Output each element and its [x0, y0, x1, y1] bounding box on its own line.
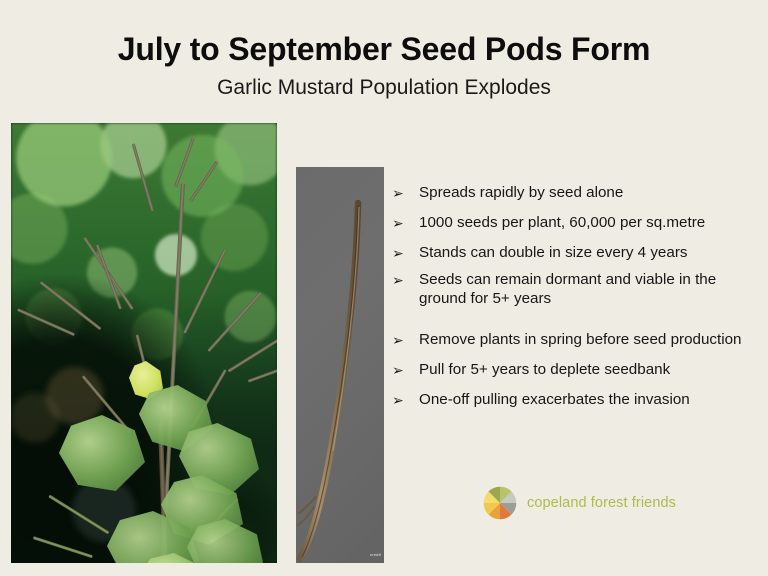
arrow-bullet-icon: ➢ — [392, 331, 408, 350]
bullet-item-3: ➢ Stands can double in size every 4 year… — [392, 243, 760, 262]
arrow-bullet-icon: ➢ — [392, 184, 408, 203]
title-block: July to September Seed Pods Form Garlic … — [0, 32, 768, 99]
bullet-text: Spreads rapidly by seed alone — [419, 184, 623, 201]
seed-pod-closeup-photo: credit — [296, 167, 384, 563]
bullet-text: Remove plants in spring before seed prod… — [419, 331, 742, 348]
page-subtitle: Garlic Mustard Population Explodes — [0, 76, 768, 99]
garlic-mustard-plant-photo — [11, 123, 277, 563]
page-title: July to September Seed Pods Form — [0, 32, 768, 67]
bullet-text: 1000 seeds per plant, 60,000 per sq.metr… — [419, 214, 705, 231]
bullet-item-7: ➢ One-off pulling exacerbates the invasi… — [392, 390, 760, 409]
bullet-list: ➢ Spreads rapidly by seed alone ➢ 1000 s… — [392, 183, 760, 409]
bullet-item-5: ➢ Remove plants in spring before seed pr… — [392, 330, 760, 349]
bullet-text: Pull for 5+ years to deplete seedbank — [419, 361, 670, 378]
photo-credit: credit — [370, 552, 381, 557]
bullet-text: Seeds can remain dormant and viable in t… — [419, 271, 716, 307]
spacer — [392, 262, 760, 270]
bullet-item-4: ➢ Seeds can remain dormant and viable in… — [392, 270, 760, 308]
arrow-bullet-icon: ➢ — [392, 214, 408, 233]
bullet-item-6: ➢ Pull for 5+ years to deplete seedbank — [392, 360, 760, 379]
pinwheel-segments — [482, 485, 518, 521]
logo-text: copeland forest friends — [527, 495, 676, 511]
spacer — [392, 232, 760, 243]
spacer — [392, 379, 760, 390]
arrow-bullet-icon: ➢ — [392, 244, 408, 263]
bullet-text: One-off pulling exacerbates the invasion — [419, 391, 690, 408]
seed-pod-shape — [296, 167, 384, 563]
arrow-bullet-icon: ➢ — [392, 271, 408, 290]
spacer — [392, 349, 760, 360]
plant-leaves-layer — [11, 123, 277, 563]
bullet-item-2: ➢ 1000 seeds per plant, 60,000 per sq.me… — [392, 213, 760, 232]
bullet-text: Stands can double in size every 4 years — [419, 244, 687, 261]
spacer — [392, 202, 760, 213]
bullet-item-1: ➢ Spreads rapidly by seed alone — [392, 183, 760, 202]
spacer — [392, 308, 760, 330]
arrow-bullet-icon: ➢ — [392, 361, 408, 380]
arrow-bullet-icon: ➢ — [392, 391, 408, 410]
copeland-forest-friends-logo: copeland forest friends — [482, 485, 676, 521]
presentation-slide: July to September Seed Pods Form Garlic … — [0, 0, 768, 576]
pinwheel-logo-icon — [482, 485, 518, 521]
